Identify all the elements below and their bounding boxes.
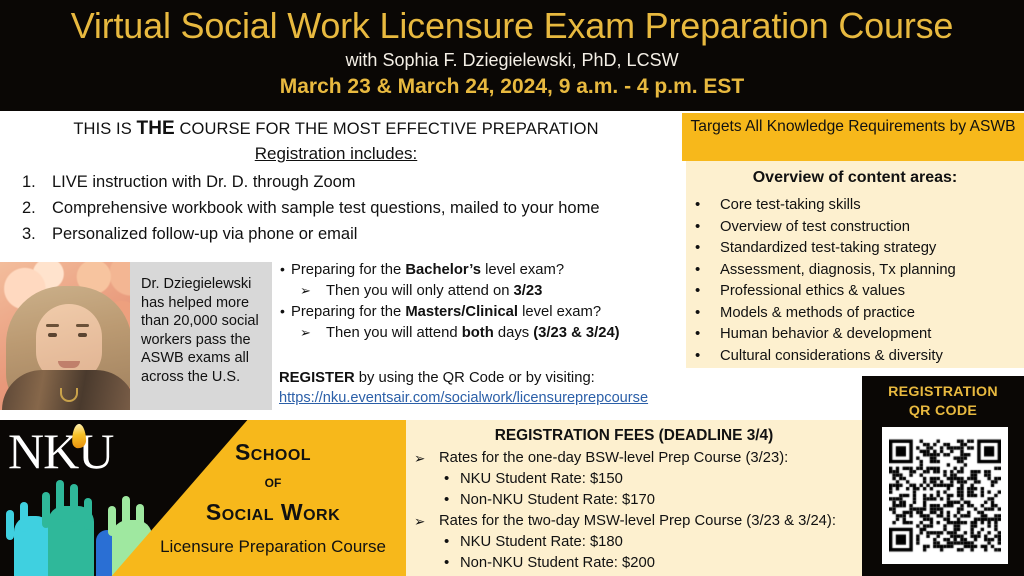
intro-headline-post: COURSE FOR THE MOST EFFECTIVE PREPARATIO… bbox=[175, 120, 599, 138]
masters-question-bold: Masters/Clinical bbox=[405, 304, 518, 320]
bachelors-question-post: level exam? bbox=[481, 262, 564, 278]
hand-finger bbox=[56, 480, 64, 520]
list-item: Overview of test construction bbox=[686, 217, 1024, 239]
hand-finger bbox=[122, 496, 130, 530]
presenter-caption: Dr. Dziegielewski has helped more than 2… bbox=[130, 262, 272, 410]
bachelors-question-pre: Preparing for the bbox=[291, 262, 405, 278]
list-item: 3.Personalized follow-up via phone or em… bbox=[0, 221, 672, 247]
list-item-number: 2. bbox=[22, 195, 36, 221]
photo-brow-right bbox=[76, 324, 89, 327]
registration-includes-list: 1.LIVE instruction with Dr. D. through Z… bbox=[0, 169, 672, 247]
bachelors-question-bold: Bachelor’s bbox=[405, 262, 481, 278]
photo-eye-right bbox=[78, 333, 87, 337]
qr-title-line1: REGISTRATION bbox=[862, 383, 1024, 402]
masters-answer-mid: days bbox=[494, 325, 533, 341]
photo-brow-left bbox=[46, 324, 59, 327]
masters-answer-dates: (3/23 & 3/24) bbox=[533, 325, 619, 341]
school-line-1: School bbox=[153, 436, 393, 468]
school-line-2: of bbox=[153, 468, 393, 496]
list-item-label: LIVE instruction with Dr. D. through Zoo… bbox=[52, 173, 356, 191]
register-label: REGISTER bbox=[279, 370, 355, 386]
school-line-4: Licensure Preparation Course bbox=[153, 532, 393, 562]
list-item-label: Comprehensive workbook with sample test … bbox=[52, 199, 600, 217]
qr-code-image[interactable] bbox=[882, 427, 1008, 564]
masters-question-pre: Preparing for the bbox=[291, 304, 405, 320]
bachelors-answer-pre: Then you will only attend on bbox=[326, 283, 514, 299]
qr-code-canvas[interactable] bbox=[889, 434, 1001, 557]
list-item-number: 3. bbox=[22, 221, 36, 247]
list-item-number: 1. bbox=[22, 169, 36, 195]
intro-block: THIS IS THE COURSE FOR THE MOST EFFECTIV… bbox=[0, 118, 672, 247]
list-item: Models & methods of practice bbox=[686, 303, 1024, 325]
qr-title-line2: QR CODE bbox=[862, 402, 1024, 421]
poster-header: Virtual Social Work Licensure Exam Prepa… bbox=[0, 0, 1024, 111]
intro-headline: THIS IS THE COURSE FOR THE MOST EFFECTIV… bbox=[0, 118, 672, 140]
bachelors-question: Preparing for the Bachelor’s level exam? bbox=[279, 260, 679, 280]
intro-headline-emphasis: THE bbox=[137, 118, 175, 139]
aswb-subtitle: Overview of content areas: bbox=[686, 166, 1024, 190]
event-dates: March 23 & March 24, 2024, 9 a.m. - 4 p.… bbox=[0, 73, 1024, 100]
hand-finger bbox=[6, 510, 14, 540]
hand-finger bbox=[70, 484, 78, 522]
register-block: REGISTER by using the QR Code or by visi… bbox=[279, 368, 699, 408]
presenter-photo bbox=[0, 262, 138, 410]
fees-rate-item: NKU Student Rate: $150 bbox=[406, 469, 862, 490]
fees-rate-item: NKU Student Rate: $180 bbox=[406, 532, 862, 553]
fees-rate-item: Non-NKU Student Rate: $200 bbox=[406, 553, 862, 574]
exam-levels-block: Preparing for the Bachelor’s level exam?… bbox=[279, 260, 679, 344]
register-instruction: REGISTER by using the QR Code or by visi… bbox=[279, 368, 699, 388]
list-item: Professional ethics & values bbox=[686, 281, 1024, 303]
poster-root: Virtual Social Work Licensure Exam Prepa… bbox=[0, 0, 1024, 576]
masters-answer-bold: both bbox=[462, 325, 494, 341]
fees-title: REGISTRATION FEES (DEADLINE 3/4) bbox=[406, 424, 862, 448]
masters-question: Preparing for the Masters/Clinical level… bbox=[279, 302, 679, 322]
school-of-social-work-text: School of Social Work Licensure Preparat… bbox=[153, 436, 393, 562]
qr-code-panel: REGISTRATION QR CODE bbox=[862, 376, 1024, 576]
hand-finger bbox=[136, 504, 144, 534]
aswb-panel-header: Targets All Knowledge Requirements by AS… bbox=[682, 113, 1024, 161]
masters-answer-pre: Then you will attend bbox=[326, 325, 462, 341]
hand-finger bbox=[108, 506, 116, 536]
page-title: Virtual Social Work Licensure Exam Prepa… bbox=[0, 4, 1024, 48]
nku-wordmark: NKU bbox=[8, 424, 113, 478]
fees-group-heading: Rates for the one-day BSW-level Prep Cou… bbox=[406, 448, 862, 469]
list-item: Human behavior & development bbox=[686, 324, 1024, 346]
aswb-panel-body: Overview of content areas: Core test-tak… bbox=[686, 161, 1024, 368]
list-item: Assessment, diagnosis, Tx planning bbox=[686, 260, 1024, 282]
registration-fees-panel: REGISTRATION FEES (DEADLINE 3/4) Rates f… bbox=[399, 420, 862, 576]
list-item: 1.LIVE instruction with Dr. D. through Z… bbox=[0, 169, 672, 195]
intro-headline-pre: THIS IS bbox=[73, 120, 136, 138]
list-item: 2.Comprehensive workbook with sample tes… bbox=[0, 195, 672, 221]
register-instruction-text: by using the QR Code or by visiting: bbox=[355, 370, 595, 386]
fees-rate-item: Non-NKU Student Rate: $170 bbox=[406, 490, 862, 511]
bachelors-answer-date: 3/23 bbox=[514, 283, 543, 299]
list-item: Cultural considerations & diversity bbox=[686, 346, 1024, 368]
list-item: Core test-taking skills bbox=[686, 195, 1024, 217]
nku-logo-block: NKU School of Social Work Licensure Prep… bbox=[0, 420, 399, 576]
hand-finger bbox=[42, 492, 50, 528]
masters-question-post: level exam? bbox=[518, 304, 601, 320]
hand-finger bbox=[20, 502, 28, 532]
presenter-name: with Sophia F. Dziegielewski, PhD, LCSW bbox=[0, 48, 1024, 72]
hand-finger bbox=[84, 498, 92, 530]
aswb-content-list: Core test-taking skills Overview of test… bbox=[686, 195, 1024, 367]
photo-mouth bbox=[58, 361, 80, 368]
photo-eye-left bbox=[48, 333, 57, 337]
fees-group-heading: Rates for the two-day MSW-level Prep Cou… bbox=[406, 511, 862, 532]
registration-url-link[interactable]: https://nku.eventsair.com/socialwork/lic… bbox=[279, 388, 699, 408]
registration-includes-label: Registration includes: bbox=[0, 142, 672, 166]
masters-answer: Then you will attend both days (3/23 & 3… bbox=[279, 323, 679, 343]
bachelors-answer: Then you will only attend on 3/23 bbox=[279, 281, 679, 301]
list-item-label: Personalized follow-up via phone or emai… bbox=[52, 225, 357, 243]
school-line-3: Social Work bbox=[153, 496, 393, 528]
list-item: Standardized test-taking strategy bbox=[686, 238, 1024, 260]
